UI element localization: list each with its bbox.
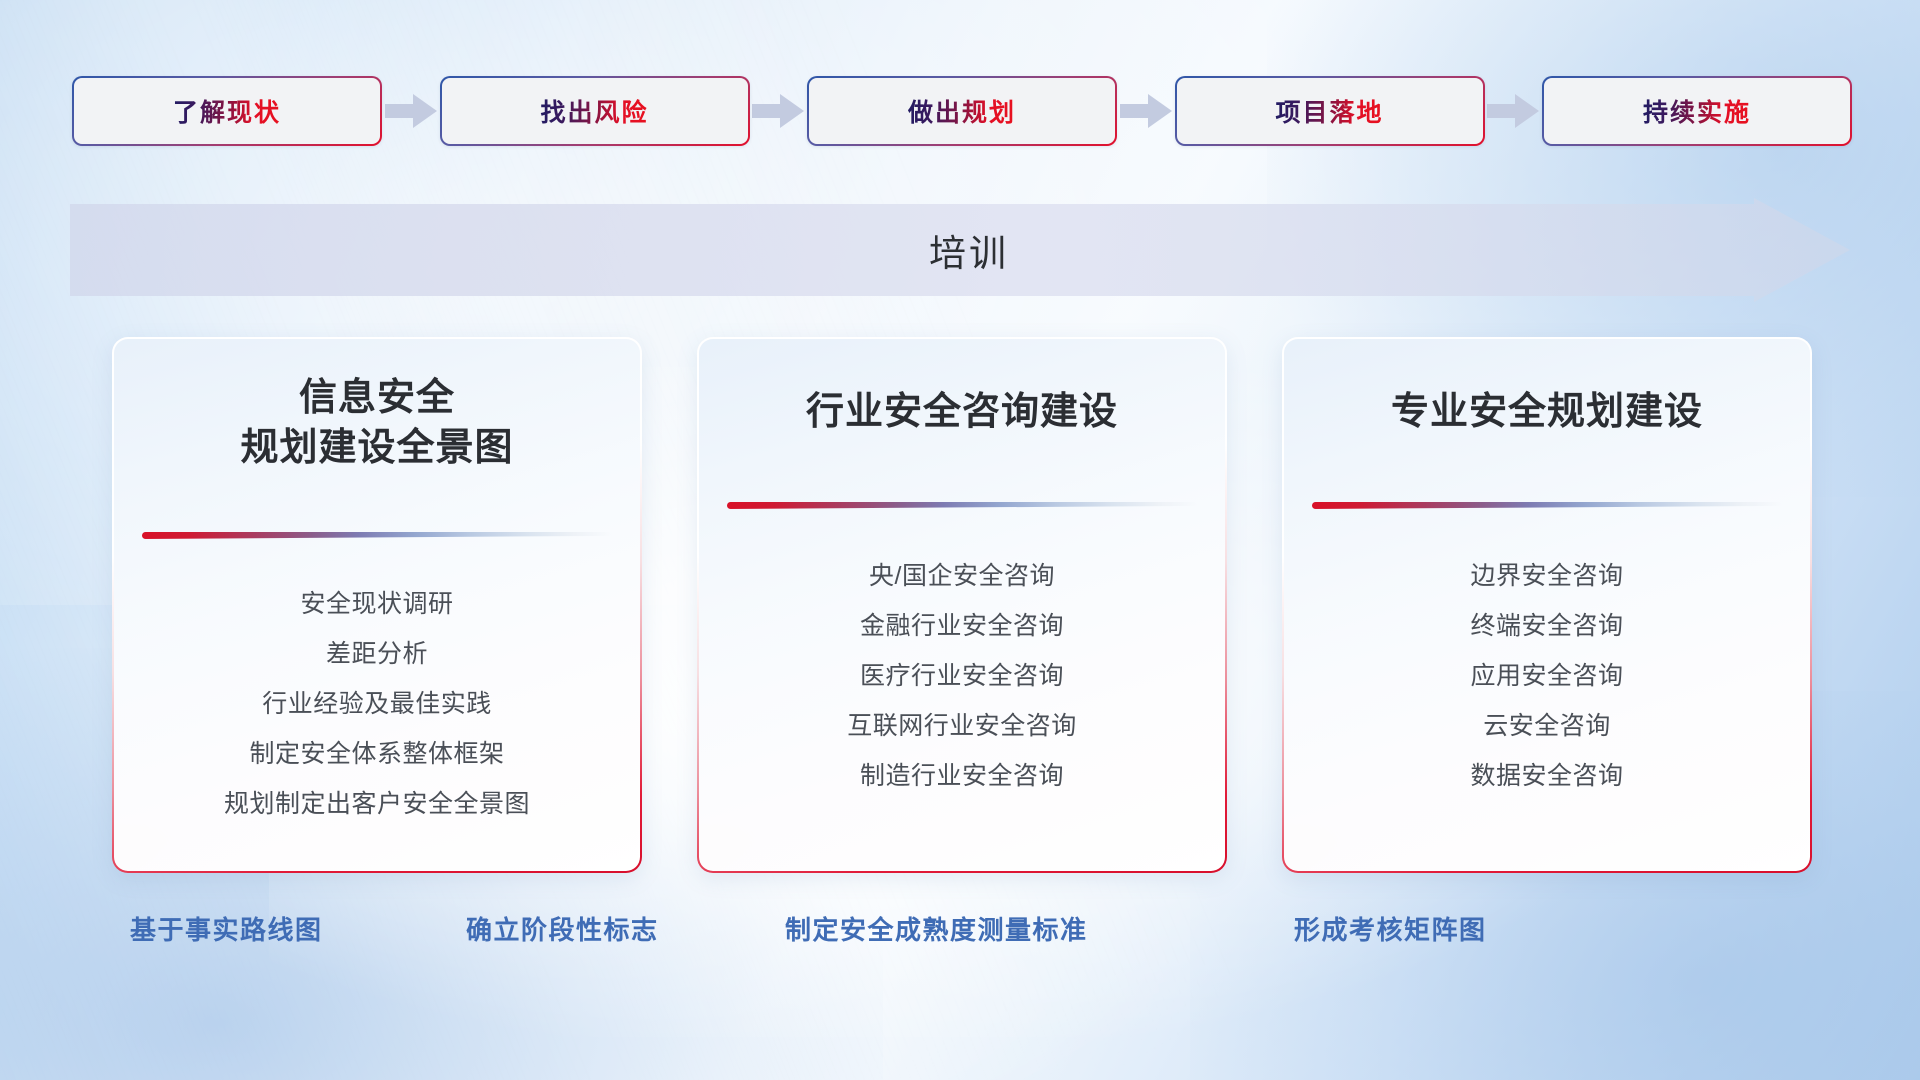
card-divider-3 xyxy=(1312,502,1782,509)
process-step-strip: 了解现状 找出风险 做出规划 项目落地 持续实施 xyxy=(72,78,1852,144)
step-box-1[interactable]: 了解现状 xyxy=(72,76,382,146)
step-label-3: 做出规划 xyxy=(908,93,1016,129)
footer-caption-3: 制定安全成熟度测量标准 xyxy=(785,910,1088,947)
card-title-2: 行业安全咨询建设 xyxy=(699,387,1225,437)
list-item: 制定安全体系整体框架 xyxy=(249,729,504,779)
step-arrow-1 xyxy=(382,91,440,131)
list-item: 终端安全咨询 xyxy=(1470,601,1623,651)
list-item: 云安全咨询 xyxy=(1483,701,1611,751)
step-arrow-4 xyxy=(1485,91,1543,131)
card-divider-1 xyxy=(142,532,612,539)
card-professional-security-planning[interactable]: 专业安全规划建设 边界安全咨询 终端安全咨询 应用安全咨询 云安全咨询 数据安全… xyxy=(1282,337,1812,873)
step-arrow-2 xyxy=(750,91,808,131)
arrow-right-icon xyxy=(750,91,806,131)
card-title-1: 信息安全 规划建设全景图 xyxy=(114,373,640,473)
list-item: 医疗行业安全咨询 xyxy=(860,651,1064,701)
step-label-1: 了解现状 xyxy=(173,93,281,129)
footer-caption-4: 形成考核矩阵图 xyxy=(1294,910,1487,947)
step-box-3[interactable]: 做出规划 xyxy=(807,76,1117,146)
list-item: 应用安全咨询 xyxy=(1470,651,1623,701)
footer-caption-2: 确立阶段性标志 xyxy=(466,910,659,947)
cards-row: 信息安全 规划建设全景图 安全现状调研 差距分析 行业经验及最佳实践 制定安全体… xyxy=(112,337,1812,877)
step-box-5[interactable]: 持续实施 xyxy=(1542,76,1852,146)
list-item: 安全现状调研 xyxy=(300,579,453,629)
list-item: 规划制定出客户安全全景图 xyxy=(224,779,530,829)
arrow-right-icon xyxy=(1485,91,1541,131)
card-list-1: 安全现状调研 差距分析 行业经验及最佳实践 制定安全体系整体框架 规划制定出客户… xyxy=(128,579,626,829)
card-title-line: 行业安全咨询建设 xyxy=(723,387,1201,437)
training-banner: 培训 xyxy=(70,198,1850,302)
list-item: 边界安全咨询 xyxy=(1470,551,1623,601)
card-list-2: 央/国企安全咨询 金融行业安全咨询 医疗行业安全咨询 互联网行业安全咨询 制造行… xyxy=(713,551,1211,801)
list-item: 央/国企安全咨询 xyxy=(869,551,1055,601)
card-title-line: 规划建设全景图 xyxy=(138,423,616,473)
step-label-4: 项目落地 xyxy=(1275,93,1383,129)
list-item: 差距分析 xyxy=(326,629,428,679)
step-box-2[interactable]: 找出风险 xyxy=(440,76,750,146)
step-arrow-3 xyxy=(1117,91,1175,131)
card-title-3: 专业安全规划建设 xyxy=(1284,387,1810,437)
arrow-right-icon xyxy=(383,91,439,131)
list-item: 行业经验及最佳实践 xyxy=(262,679,492,729)
banner-title-wrap: 培训 xyxy=(70,198,1850,302)
step-label-5: 持续实施 xyxy=(1643,93,1751,129)
step-label-2: 找出风险 xyxy=(540,93,648,129)
card-information-security-blueprint[interactable]: 信息安全 规划建设全景图 安全现状调研 差距分析 行业经验及最佳实践 制定安全体… xyxy=(112,337,642,873)
banner-title: 培训 xyxy=(929,223,1009,277)
card-title-line: 专业安全规划建设 xyxy=(1308,387,1786,437)
list-item: 金融行业安全咨询 xyxy=(860,601,1064,651)
card-title-line: 信息安全 xyxy=(138,373,616,423)
list-item: 数据安全咨询 xyxy=(1470,751,1623,801)
list-item: 制造行业安全咨询 xyxy=(860,751,1064,801)
list-item: 互联网行业安全咨询 xyxy=(847,701,1077,751)
card-list-3: 边界安全咨询 终端安全咨询 应用安全咨询 云安全咨询 数据安全咨询 xyxy=(1298,551,1796,801)
card-divider-2 xyxy=(727,502,1197,509)
footer-caption-1: 基于事实路线图 xyxy=(130,910,323,947)
step-box-4[interactable]: 项目落地 xyxy=(1175,76,1485,146)
arrow-right-icon xyxy=(1118,91,1174,131)
card-industry-security-consulting[interactable]: 行业安全咨询建设 央/国企安全咨询 金融行业安全咨询 医疗行业安全咨询 互联网行… xyxy=(697,337,1227,873)
footer-captions: 基于事实路线图 确立阶段性标志 制定安全成熟度测量标准 形成考核矩阵图 xyxy=(0,910,1920,956)
